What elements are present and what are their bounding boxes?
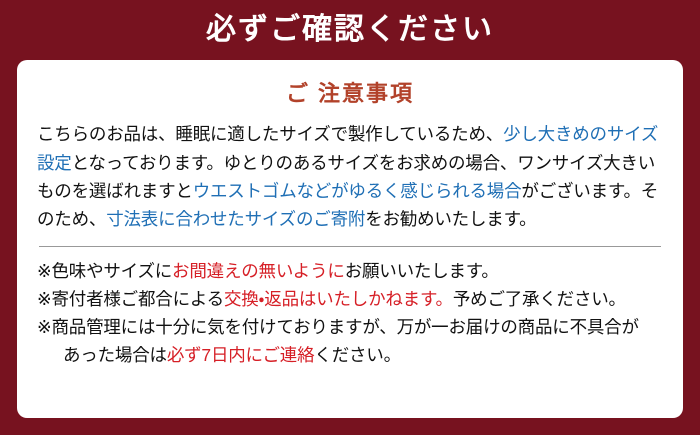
section-divider xyxy=(39,246,661,247)
note-item-3: ※商品管理には十分に気を付けておりますが、万が一お届けの商品に不具合が xyxy=(37,313,663,341)
card-subtitle: ご 注意事項 xyxy=(37,82,663,106)
note-item-1: ※色味やサイズにお間違えの無いようにお願いいたします。 xyxy=(37,257,663,285)
note-3-segment-1: ※商品管理には十分に気を付けておりますが、万が一お届けの商品に不具合が xyxy=(37,317,639,337)
notice-banner: 必ずご確認ください ご 注意事項 こちらのお品は、睡眠に適したサイズで製作してい… xyxy=(0,0,700,435)
paragraph-segment-1: こちらのお品は、睡眠に適したサイズで製作しているため、 xyxy=(37,124,503,144)
paragraph-segment-7: をお勧めいたします。 xyxy=(365,209,536,229)
note-3-continuation-segment-3: ください。 xyxy=(314,345,401,365)
note-item-2: ※寄付者様ご都合による交換・返品はいたしかねます。予めご了承ください。 xyxy=(37,285,663,313)
banner-title: 必ずご確認ください xyxy=(206,15,494,45)
paragraph-segment-6-highlight: 寸法表に合わせたサイズのご寄附 xyxy=(106,209,365,229)
sizing-paragraph: こちらのお品は、睡眠に適したサイズで製作しているため、少し大きめのサイズ設定とな… xyxy=(37,120,663,233)
paragraph-segment-4-highlight: ウエストゴムなどがゆるく感じられる場合 xyxy=(193,181,522,201)
note-2-segment-3: 予めご了承ください。 xyxy=(453,289,626,309)
notice-card: ご 注意事項 こちらのお品は、睡眠に適したサイズで製作しているため、少し大きめの… xyxy=(17,60,683,418)
note-2-segment-2-highlight: 交換・返品はいたしかねます。 xyxy=(224,289,453,309)
note-1-segment-1: ※色味やサイズに xyxy=(37,261,172,281)
banner-header: 必ずご確認ください xyxy=(0,0,700,60)
note-2-segment-1: ※寄付者様ご都合による xyxy=(37,289,224,309)
note-1-segment-3: お願いいたします。 xyxy=(345,261,499,281)
note-3-continuation-segment-1: あった場合は xyxy=(63,345,167,365)
note-1-segment-2-highlight: お間違えの無いように xyxy=(172,261,345,281)
note-3-continuation-segment-2-highlight: 必ず7日内にご連絡 xyxy=(167,345,315,365)
note-item-3-continuation: あった場合は必ず7日内にご連絡ください。 xyxy=(37,341,663,369)
